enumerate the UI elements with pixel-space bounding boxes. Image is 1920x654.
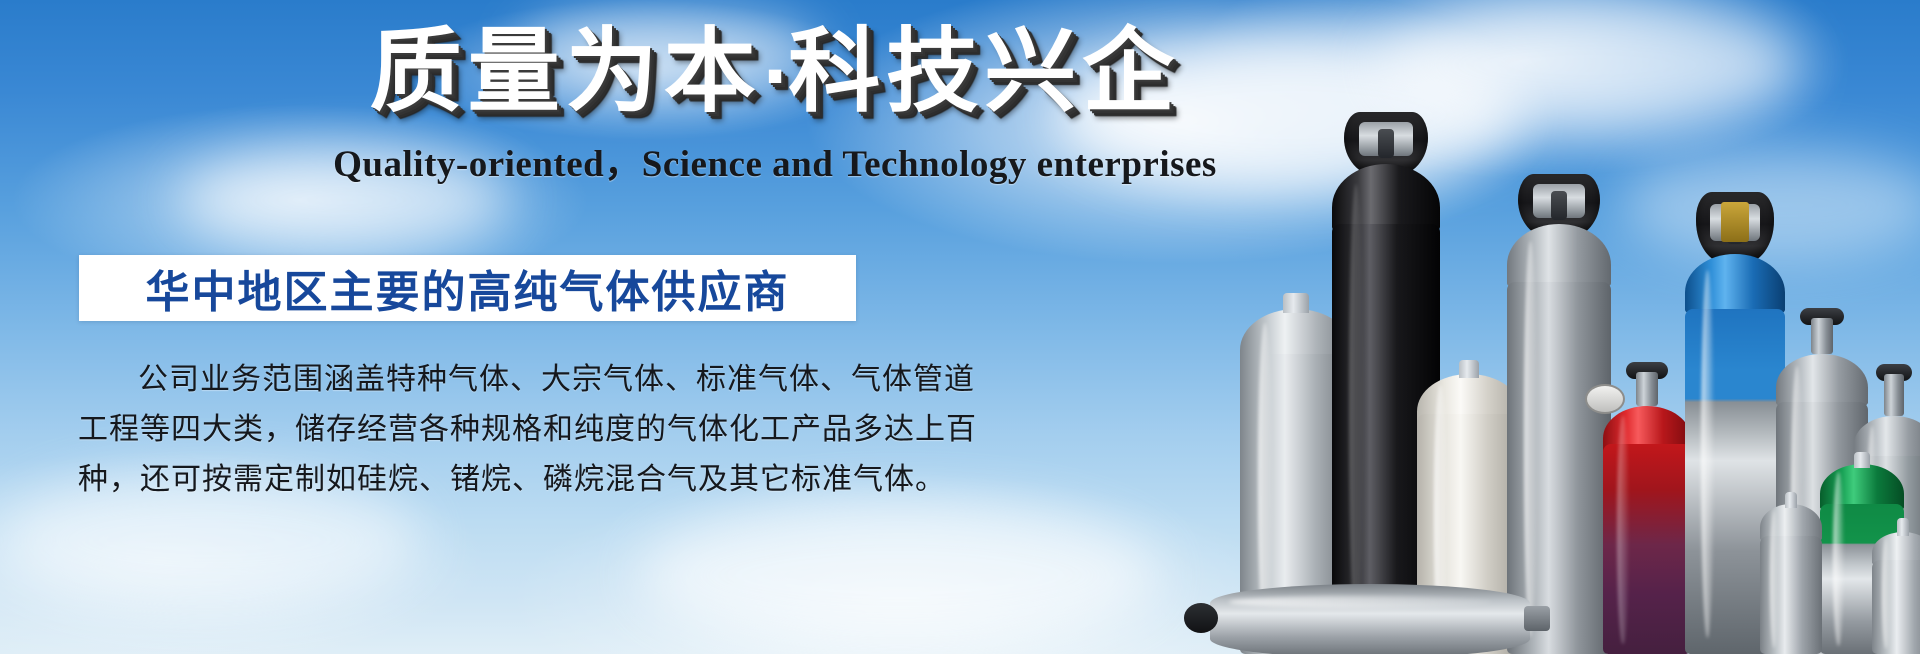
cylinder-silver-small [1760,504,1822,654]
page-title: 质量为本·科技兴企 [370,22,1181,121]
cylinder-grey-light [1240,309,1352,654]
cylinder-green-grey [1820,464,1904,654]
cylinder-white [1417,374,1521,654]
hero-banner: 质量为本·科技兴企 Quality-oriented，Science and T… [0,0,1920,654]
cloud-shape [640,500,1160,650]
cylinder-silver-mini [1872,532,1920,654]
headline-part1: 质量为本 [370,18,762,125]
cylinder-blue-grey [1685,254,1785,654]
cloud-shape [1620,150,1920,260]
cylinder-grey-chrome-valve [1854,416,1920,654]
description-line-2: 工程等四大类，储存经营各种规格和纯度的气体化工产品多达上百 [78,405,868,455]
cylinder-red-purple [1603,406,1691,654]
description-line-3: 种，还可按需定制如硅烷、锗烷、磷烷混合气及其它标准气体。 [78,455,868,505]
subheadline-container: Quality-oriented，Science and Technology … [0,133,1550,187]
cylinder-black-tall [1332,164,1440,654]
headline-container: 质量为本·科技兴企 [0,22,1550,121]
page-subtitle: Quality-oriented，Science and Technology … [333,133,1217,187]
horizontal-gas-tank [1210,584,1530,654]
headline-separator-dot: · [762,36,789,118]
description-line-1: 公司业务范围涵盖特种气体、大宗气体、标准气体、气体管道 [78,355,868,405]
cylinder-grey-valve [1776,354,1868,654]
cylinder-grey-capped [1507,224,1611,654]
slogan-text: 华中地区主要的高纯气体供应商 [146,256,790,320]
headline-part2: 科技兴企 [788,18,1180,125]
slogan-box: 华中地区主要的高纯气体供应商 [79,255,856,321]
description-paragraph: 公司业务范围涵盖特种气体、大宗气体、标准气体、气体管道 工程等四大类，储存经营各… [78,355,868,505]
